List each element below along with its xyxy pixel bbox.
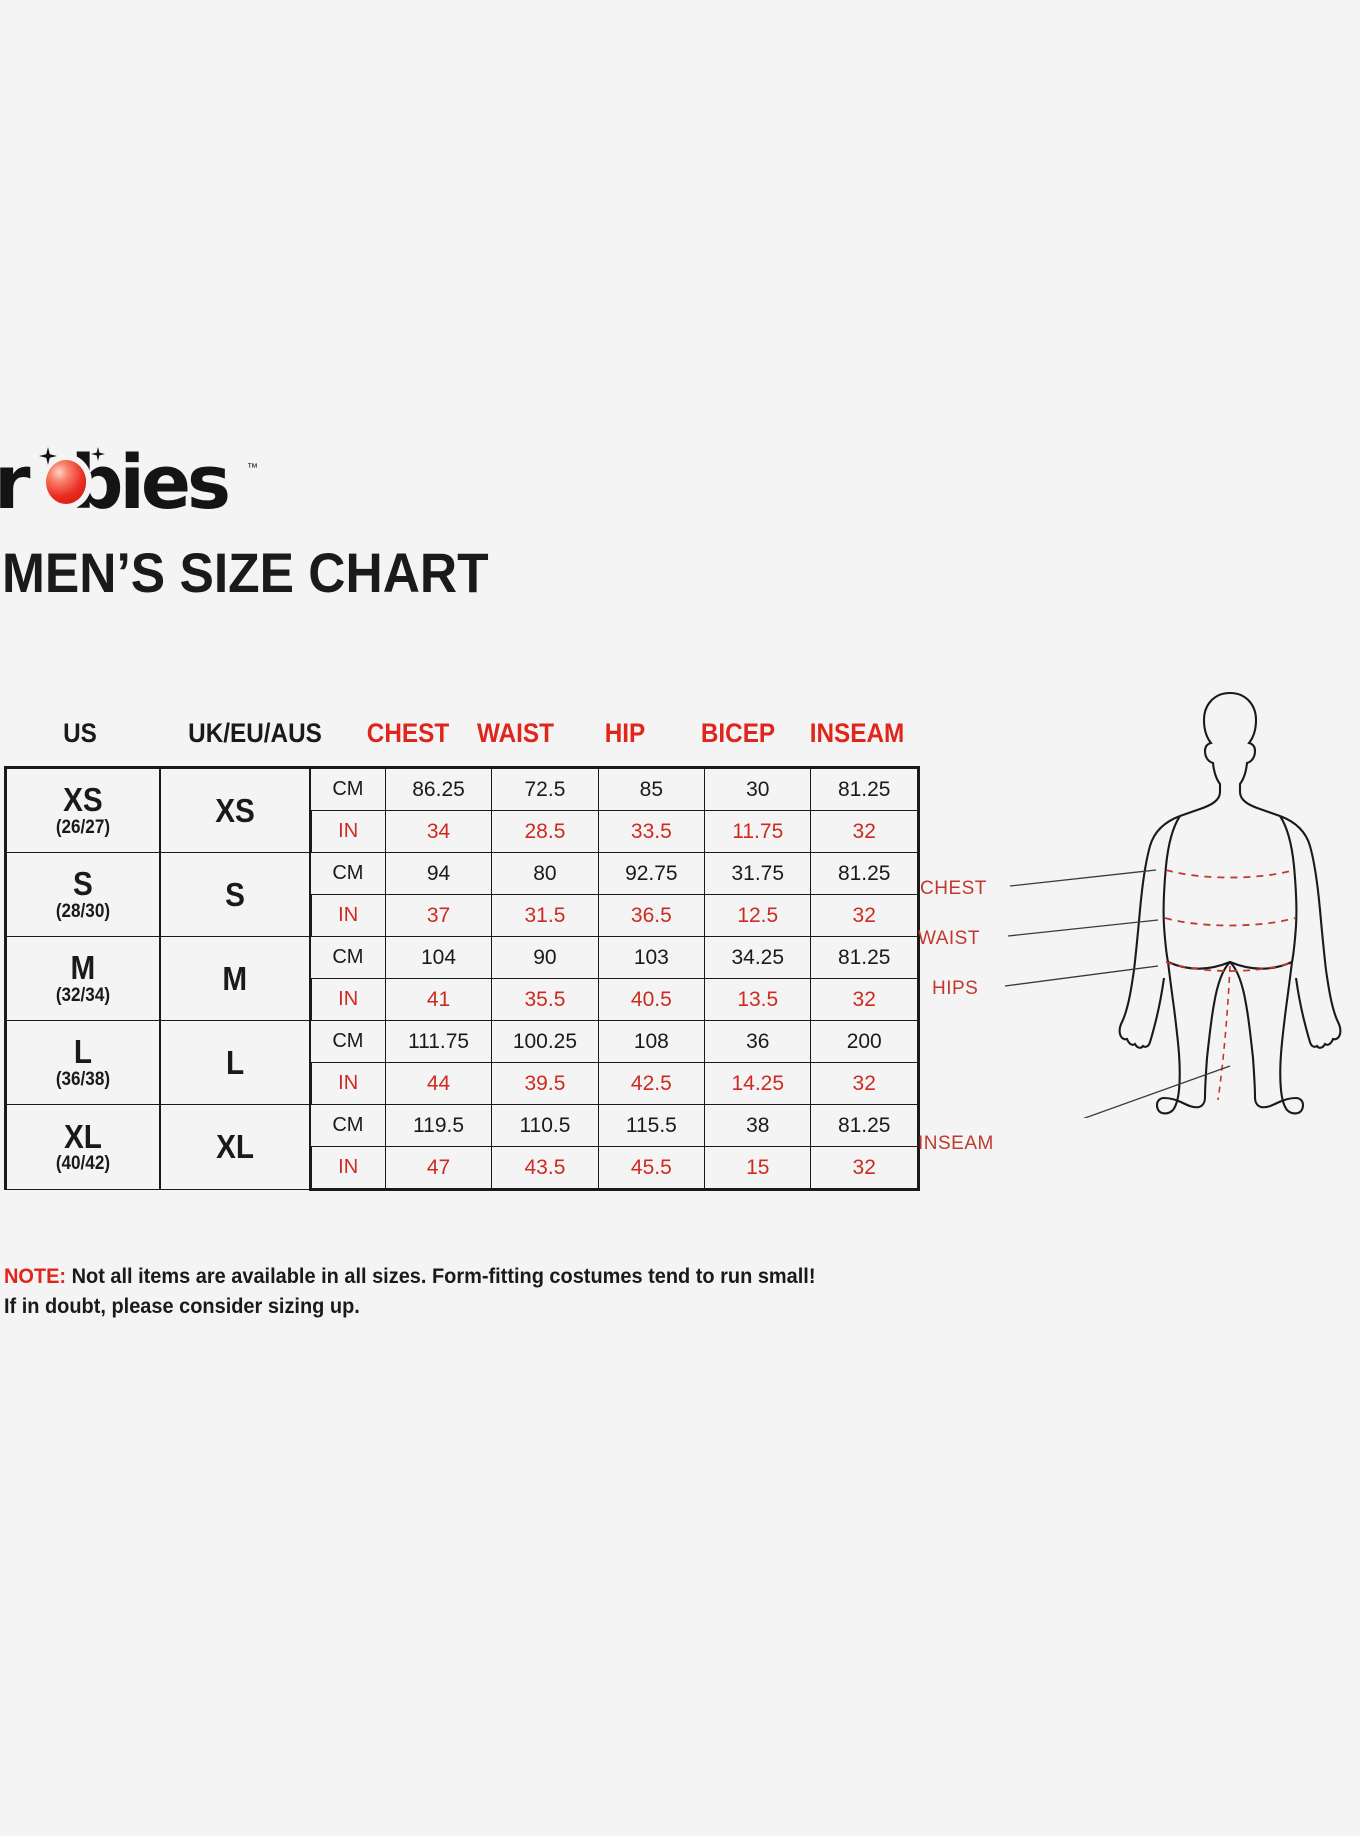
us-size-main: M bbox=[15, 951, 152, 986]
diagram-label-chest: CHEST bbox=[920, 878, 987, 900]
chest-measure-line bbox=[1166, 870, 1294, 878]
cell-chest-cm: 94 bbox=[385, 853, 491, 895]
brand-logo: rbies ™ bbox=[0, 446, 300, 536]
cell-waist-cm: 72.5 bbox=[492, 768, 598, 811]
cell-bicep-in: 14.25 bbox=[705, 1063, 811, 1105]
cell-hip-cm: 108 bbox=[598, 1021, 704, 1063]
us-size-sub: (36/38) bbox=[15, 1070, 152, 1090]
us-size-sub: (26/27) bbox=[15, 818, 152, 838]
cell-us-size: L (36/38) bbox=[6, 1021, 160, 1105]
cell-unit-in: IN bbox=[310, 1147, 385, 1190]
intl-size-label: M bbox=[222, 960, 247, 998]
diagram-label-hips: HIPS bbox=[932, 978, 978, 1000]
intl-size-label: L bbox=[226, 1044, 244, 1082]
waist-measure-line bbox=[1165, 918, 1295, 926]
cell-hip-in: 40.5 bbox=[598, 979, 704, 1021]
cell-bicep-in: 15 bbox=[705, 1147, 811, 1190]
wordmark-right: bies bbox=[71, 446, 228, 520]
cell-waist-in: 31.5 bbox=[492, 895, 598, 937]
diagram-label-inseam: INSEAM bbox=[918, 1133, 994, 1155]
cell-waist-in: 43.5 bbox=[492, 1147, 598, 1190]
cell-hip-in: 45.5 bbox=[598, 1147, 704, 1190]
cell-waist-in: 28.5 bbox=[492, 811, 598, 853]
cell-hip-cm: 103 bbox=[598, 937, 704, 979]
cell-chest-cm: 86.25 bbox=[385, 768, 491, 811]
cell-waist-cm: 100.25 bbox=[492, 1021, 598, 1063]
cell-chest-cm: 119.5 bbox=[385, 1105, 491, 1147]
table-row: XS (26/27) XS CM 86.25 72.5 85 30 81.25 bbox=[6, 768, 919, 811]
size-chart-table: XS (26/27) XS CM 86.25 72.5 85 30 81.25 … bbox=[4, 766, 920, 1191]
chest-leader-line bbox=[1010, 870, 1156, 886]
inseam-measure-line bbox=[1218, 966, 1230, 1100]
intl-size-label: S bbox=[225, 876, 245, 914]
column-header-intl: UK/EU/AUS bbox=[162, 718, 347, 749]
us-size-main: XS bbox=[15, 783, 152, 818]
cell-us-size: XS (26/27) bbox=[6, 768, 160, 853]
ruby-gem-icon bbox=[46, 460, 86, 504]
size-chart-page: rbies ™ MEN’S SIZE CHART US UK/EU/AUS CH… bbox=[0, 0, 1360, 1836]
waist-leader-line bbox=[1008, 920, 1158, 936]
cell-intl-size: M bbox=[160, 937, 310, 1021]
table-row: L (36/38) L CM 111.75 100.25 108 36 200 bbox=[6, 1021, 919, 1063]
column-header-us: US bbox=[21, 718, 140, 749]
column-header-chest: CHEST bbox=[359, 718, 456, 749]
table-row: XL (40/42) XL CM 119.5 110.5 115.5 38 81… bbox=[6, 1105, 919, 1147]
table-column-headers: US UK/EU/AUS CHEST WAIST HIP BICEP INSEA… bbox=[4, 718, 924, 758]
cell-bicep-cm: 31.75 bbox=[705, 853, 811, 895]
trademark-symbol: ™ bbox=[247, 462, 258, 474]
cell-intl-size: S bbox=[160, 853, 310, 937]
column-header-inseam: INSEAM bbox=[800, 718, 913, 749]
cell-bicep-cm: 34.25 bbox=[705, 937, 811, 979]
cell-hip-cm: 115.5 bbox=[598, 1105, 704, 1147]
cell-us-size: XL (40/42) bbox=[6, 1105, 160, 1190]
table-row: M (32/34) M CM 104 90 103 34.25 81.25 bbox=[6, 937, 919, 979]
table-row: S (28/30) S CM 94 80 92.75 31.75 81.25 bbox=[6, 853, 919, 895]
note-text: NOTE: Not all items are available in all… bbox=[4, 1262, 859, 1322]
cell-bicep-cm: 38 bbox=[705, 1105, 811, 1147]
us-size-main: XL bbox=[15, 1120, 152, 1155]
cell-bicep-cm: 36 bbox=[705, 1021, 811, 1063]
cell-hip-cm: 85 bbox=[598, 768, 704, 811]
cell-chest-in: 47 bbox=[385, 1147, 491, 1190]
cell-chest-in: 44 bbox=[385, 1063, 491, 1105]
us-size-sub: (40/42) bbox=[15, 1154, 152, 1174]
cell-waist-in: 39.5 bbox=[492, 1063, 598, 1105]
cell-unit-cm: CM bbox=[310, 768, 385, 811]
cell-us-size: S (28/30) bbox=[6, 853, 160, 937]
column-header-bicep: BICEP bbox=[688, 718, 789, 749]
wordmark-left: r bbox=[0, 446, 27, 520]
brand-wordmark: rbies bbox=[0, 446, 227, 520]
cell-unit-cm: CM bbox=[310, 1021, 385, 1063]
cell-intl-size: XS bbox=[160, 768, 310, 853]
cell-chest-in: 34 bbox=[385, 811, 491, 853]
cell-hip-in: 42.5 bbox=[598, 1063, 704, 1105]
cell-waist-cm: 110.5 bbox=[492, 1105, 598, 1147]
cell-unit-in: IN bbox=[310, 979, 385, 1021]
cell-unit-cm: CM bbox=[310, 1105, 385, 1147]
cell-waist-cm: 90 bbox=[492, 937, 598, 979]
cell-hip-cm: 92.75 bbox=[598, 853, 704, 895]
cell-chest-cm: 104 bbox=[385, 937, 491, 979]
intl-size-label: XL bbox=[216, 1128, 254, 1166]
inseam-leader-line bbox=[1018, 1066, 1230, 1118]
page-title: MEN’S SIZE CHART bbox=[2, 540, 489, 605]
cell-unit-cm: CM bbox=[310, 853, 385, 895]
us-size-main: S bbox=[15, 867, 152, 902]
hips-leader-line bbox=[1005, 966, 1158, 986]
cell-waist-cm: 80 bbox=[492, 853, 598, 895]
cell-us-size: M (32/34) bbox=[6, 937, 160, 1021]
note-line-1: Not all items are available in all sizes… bbox=[66, 1265, 815, 1288]
cell-chest-in: 41 bbox=[385, 979, 491, 1021]
note-label: NOTE: bbox=[4, 1265, 66, 1288]
cell-intl-size: XL bbox=[160, 1105, 310, 1190]
note-line-2: If in doubt, please consider sizing up. bbox=[4, 1295, 360, 1318]
us-size-main: L bbox=[15, 1035, 152, 1070]
us-size-sub: (32/34) bbox=[15, 986, 152, 1006]
size-chart-body: XS (26/27) XS CM 86.25 72.5 85 30 81.25 … bbox=[6, 768, 919, 1190]
cell-unit-in: IN bbox=[310, 811, 385, 853]
cell-waist-in: 35.5 bbox=[492, 979, 598, 1021]
cell-chest-in: 37 bbox=[385, 895, 491, 937]
diagram-label-waist: WAIST bbox=[918, 928, 980, 950]
cell-unit-in: IN bbox=[310, 1063, 385, 1105]
us-size-sub: (28/30) bbox=[15, 902, 152, 922]
column-header-hip: HIP bbox=[577, 718, 672, 749]
cell-intl-size: L bbox=[160, 1021, 310, 1105]
cell-unit-cm: CM bbox=[310, 937, 385, 979]
cell-unit-in: IN bbox=[310, 895, 385, 937]
cell-inseam-in: 32 bbox=[811, 1147, 919, 1190]
cell-hip-in: 33.5 bbox=[598, 811, 704, 853]
cell-hip-in: 36.5 bbox=[598, 895, 704, 937]
cell-bicep-in: 11.75 bbox=[705, 811, 811, 853]
intl-size-label: XS bbox=[215, 792, 255, 830]
cell-bicep-cm: 30 bbox=[705, 768, 811, 811]
cell-bicep-in: 13.5 bbox=[705, 979, 811, 1021]
cell-bicep-in: 12.5 bbox=[705, 895, 811, 937]
cell-chest-cm: 111.75 bbox=[385, 1021, 491, 1063]
column-header-waist: WAIST bbox=[468, 718, 563, 749]
body-measurement-diagram: CHEST WAIST HIPS INSEAM bbox=[900, 648, 1360, 1118]
